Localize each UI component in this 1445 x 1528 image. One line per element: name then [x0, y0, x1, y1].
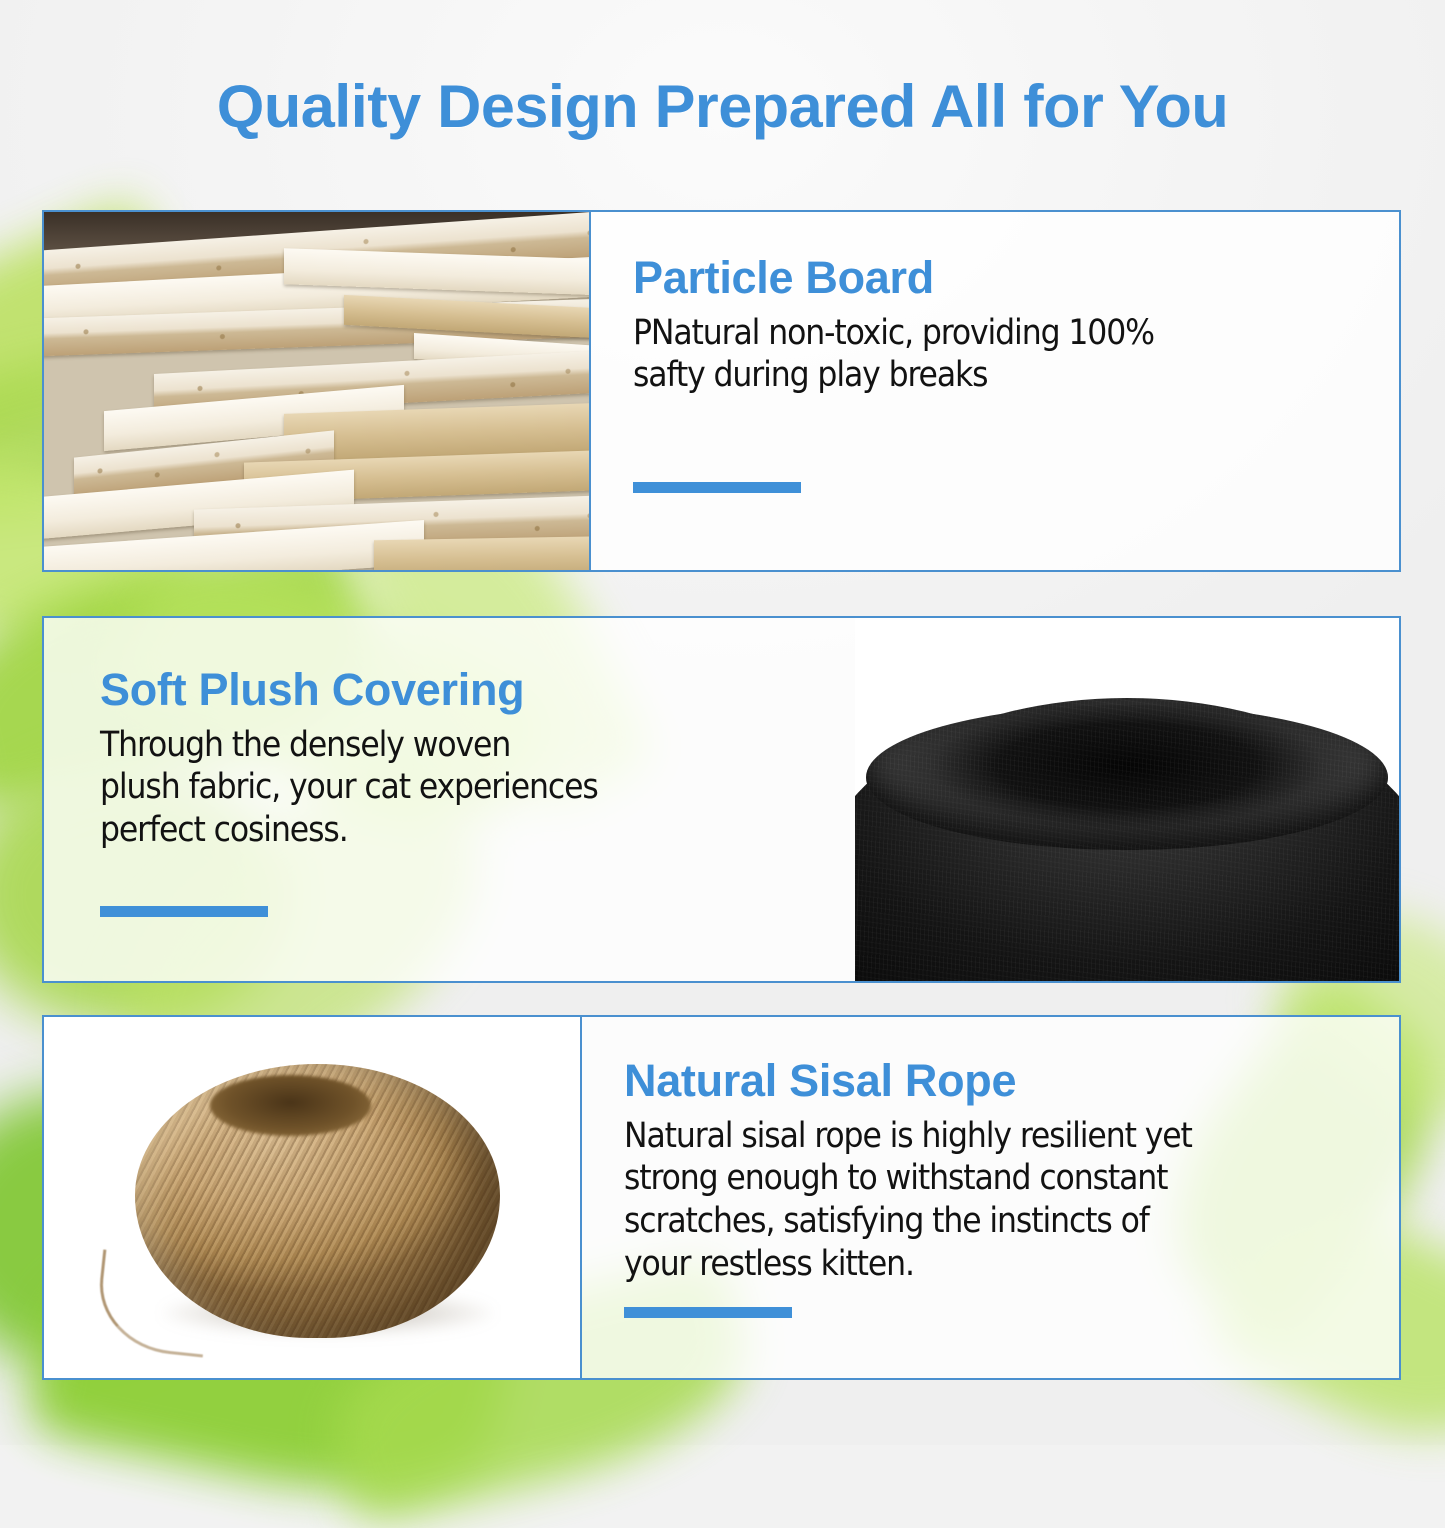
- card-body: Natural sisal rope is highly resilient y…: [624, 1115, 1373, 1286]
- card-body-line: safty during play breaks: [633, 354, 1359, 397]
- accent-bar: [624, 1307, 792, 1318]
- card-body-line: PNatural non-toxic, providing 100%: [633, 312, 1359, 355]
- sisal-rope-artwork: [44, 1017, 580, 1378]
- card-body-line: Through the densely woven: [100, 724, 825, 767]
- plush-fuzz-texture: [855, 618, 1399, 981]
- feature-card-soft-plush-covering: Soft Plush Covering Through the densely …: [42, 616, 1401, 983]
- card-body-line: scratches, satisfying the instincts of: [624, 1200, 1373, 1243]
- card-title: Natural Sisal Rope: [624, 1057, 1373, 1105]
- card-body-line: strong enough to withstand constant: [624, 1157, 1373, 1200]
- card-body-line: your restless kitten.: [624, 1243, 1373, 1286]
- particle-board-artwork: [44, 212, 589, 570]
- card-body-line: perfect cosiness.: [100, 809, 825, 852]
- particle-board-image: [44, 212, 589, 570]
- rope-loose-strand: [93, 1250, 213, 1358]
- rope-ball-center: [210, 1075, 371, 1136]
- card-body: Through the densely woven plush fabric, …: [100, 724, 825, 852]
- accent-bar: [100, 906, 268, 917]
- feature-card-particle-board: Particle Board PNatural non-toxic, provi…: [42, 210, 1401, 572]
- card-title: Soft Plush Covering: [100, 666, 825, 714]
- card-body-line: Natural sisal rope is highly resilient y…: [624, 1115, 1373, 1158]
- infographic-page: Quality Design Prepared All for You: [0, 0, 1445, 1445]
- accent-bar: [633, 482, 801, 493]
- card-body: PNatural non-toxic, providing 100% safty…: [633, 312, 1359, 397]
- particle-board-text: Particle Board PNatural non-toxic, provi…: [589, 212, 1399, 570]
- plush-fabric-artwork: [855, 618, 1399, 981]
- sisal-rope-image: [44, 1017, 580, 1378]
- card-title: Particle Board: [633, 254, 1359, 302]
- sisal-rope-text: Natural Sisal Rope Natural sisal rope is…: [580, 1017, 1399, 1378]
- soft-plush-text: Soft Plush Covering Through the densely …: [44, 618, 855, 981]
- page-title: Quality Design Prepared All for You: [0, 72, 1445, 141]
- board-plank: [374, 536, 589, 570]
- card-body-line: plush fabric, your cat experiences: [100, 766, 825, 809]
- feature-card-natural-sisal-rope: Natural Sisal Rope Natural sisal rope is…: [42, 1015, 1401, 1380]
- soft-plush-image: [855, 618, 1399, 981]
